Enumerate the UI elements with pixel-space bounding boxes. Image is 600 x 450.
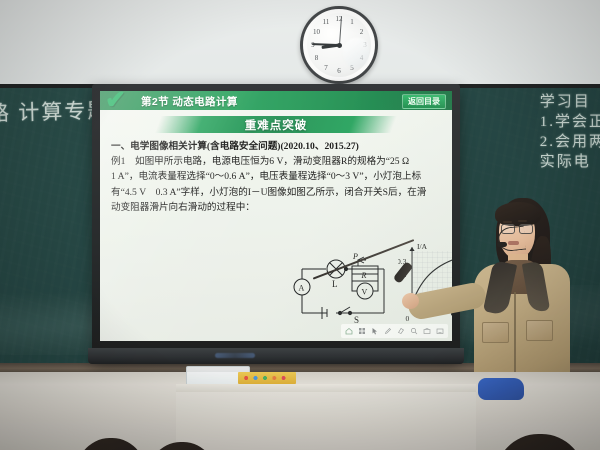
home-icon[interactable] [345, 327, 353, 335]
pen-icon[interactable] [384, 327, 392, 335]
label-rheostat: R [361, 271, 367, 280]
clock-numeral: 2 [357, 27, 367, 37]
clock-numeral: 10 [311, 27, 321, 37]
clock-numeral: 12 [334, 14, 344, 24]
label-lamp: L [332, 279, 338, 289]
slide-line: 有“4.5 V 0.3 A”字样，小灯泡的I－U图像如图乙所示，闭合开关S后，在… [111, 185, 445, 200]
slide-line: 例1 如图甲所示电路，电源电压恒为6 V，滑动变阻器R的规格为“25 Ω [111, 154, 445, 169]
apps-grid-icon[interactable] [358, 327, 366, 335]
clock-glare [343, 38, 369, 68]
clock-numeral: 7 [321, 63, 331, 73]
section-ribbon-title: 重难点突破 [100, 117, 452, 133]
chalk-line: 学习目 [540, 92, 600, 112]
screenshot-icon[interactable] [423, 327, 431, 335]
eraser-icon[interactable] [397, 327, 405, 335]
clock-numeral: 8 [311, 53, 321, 63]
presentation-screen[interactable]: ✔ 第2节 动态电路计算 返回目录 重难点突破 一、电学图像相关计算(含电路安全… [100, 91, 452, 341]
checkmark-icon: ✔ [105, 91, 139, 111]
keyboard-icon[interactable] [436, 327, 444, 335]
magnifier-icon[interactable] [410, 327, 418, 335]
clock-numeral: 1 [347, 17, 357, 27]
cursor-icon[interactable] [371, 327, 379, 335]
slide-title: 第2节 动态电路计算 [141, 94, 238, 109]
teacher-bangs [495, 202, 541, 226]
microphone-tip [497, 242, 507, 247]
chalk-line: 2.会用两 [540, 132, 600, 152]
smartboard-indicator-lights [215, 353, 255, 358]
circuit-diagram: L A R P V S [288, 251, 410, 327]
classroom-photo: 121234567891011 路 计算专题 学习目 1.学会正 2.会用两 实… [0, 0, 600, 450]
label-voltmeter: V [362, 288, 368, 297]
jacket-pocket-left [482, 322, 509, 343]
teacher-eyebrow [518, 220, 527, 222]
clock-center-dot [337, 43, 342, 48]
wall-clock: 121234567891011 [300, 6, 378, 84]
desk-front [176, 392, 476, 450]
label-ammeter: A [299, 284, 305, 293]
board-toolbar[interactable] [341, 324, 448, 338]
chalk-line: 1.学会正 [540, 112, 600, 132]
chalk-line: 实际电 [540, 152, 600, 172]
clock-numeral: 11 [321, 17, 331, 27]
color-box-dots [241, 374, 293, 382]
slide-line: 1 A”，电流表量程选择“0～0.6 A”，电压表量程选择“0～3 V”，小灯泡… [111, 169, 445, 184]
slide-body-text: 一、电学图像相关计算(含电路安全问题)(2020.10、2015.27) 例1 … [111, 139, 445, 215]
teacher-eyebrow [503, 221, 512, 223]
chalkboard-right-text: 学习目 1.学会正 2.会用两 实际电 [540, 92, 600, 172]
graph-ylabel: I/A [417, 243, 428, 251]
slide-line: 一、电学图像相关计算(含电路安全问题)(2020.10、2015.27) [111, 139, 445, 154]
back-to-contents-button[interactable]: 返回目录 [402, 94, 446, 109]
blue-cloth [478, 378, 524, 400]
jacket-pocket-right [526, 320, 553, 341]
smartboard-bottom-bar [88, 348, 464, 364]
graph-origin: 0 [406, 314, 410, 323]
slide-line: 动变阻器滑片向右滑动的过程中： [111, 200, 445, 215]
clock-numeral: 6 [334, 66, 344, 76]
